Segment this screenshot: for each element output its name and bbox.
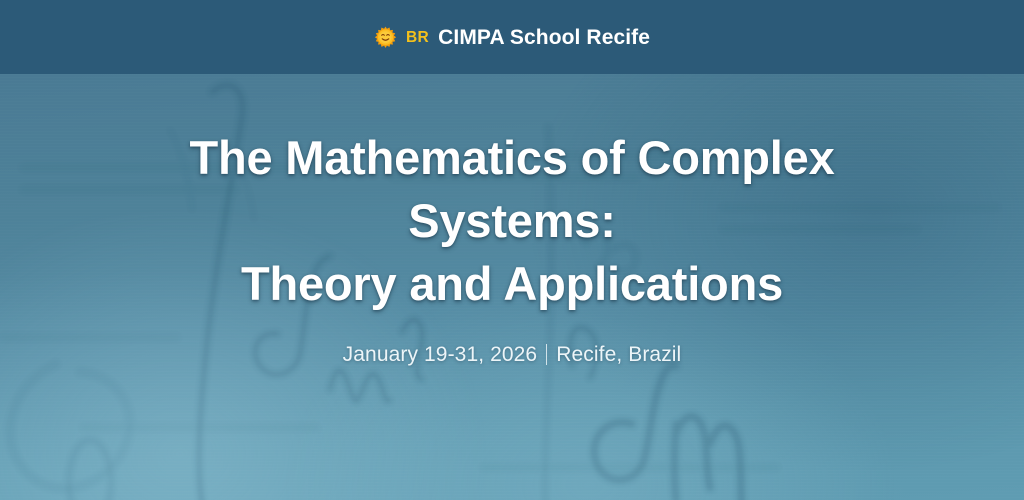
event-title-line-1: The Mathematics of Complex xyxy=(189,126,834,189)
event-dates: January 19-31, 2026 xyxy=(343,341,538,368)
country-code-badge: BR xyxy=(406,30,429,46)
hero-content: The Mathematics of Complex Systems: Theo… xyxy=(0,74,1024,500)
event-title: The Mathematics of Complex Systems: Theo… xyxy=(189,126,834,315)
top-navigation-bar: BR CIMPA School Recife xyxy=(0,0,1024,74)
page-root: BR CIMPA School Recife xyxy=(0,0,1024,500)
meta-separator xyxy=(546,344,547,365)
site-title: CIMPA School Recife xyxy=(438,27,650,48)
sun-with-face-icon xyxy=(374,26,397,49)
brand-link[interactable]: BR CIMPA School Recife xyxy=(368,0,656,74)
event-location: Recife, Brazil xyxy=(556,341,681,368)
event-title-line-3: Theory and Applications xyxy=(189,252,834,315)
event-meta: January 19-31, 2026 Recife, Brazil xyxy=(343,341,682,368)
event-title-line-2: Systems: xyxy=(189,189,834,252)
hero-banner: The Mathematics of Complex Systems: Theo… xyxy=(0,74,1024,500)
